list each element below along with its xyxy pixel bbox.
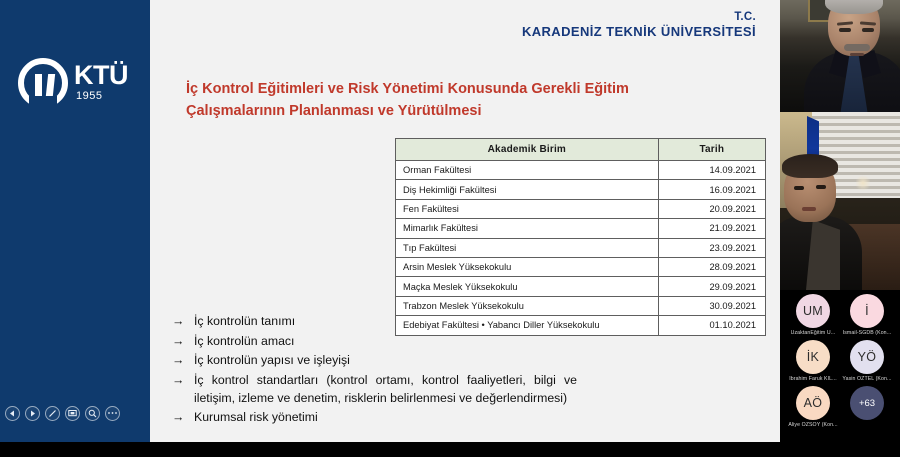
- table-row: Mimarlık Fakültesi21.09.2021: [396, 219, 766, 238]
- schedule-table-body: Orman Fakültesi14.09.2021Diş Hekimliği F…: [396, 161, 766, 336]
- cell-unit: Arsin Meslek Yüksekokulu: [396, 257, 659, 276]
- arrow-icon: →: [172, 351, 194, 370]
- participant-name: Aliye ÖZSOY (Kon...: [788, 422, 837, 428]
- participant-name: UzaktanEğitim U...: [791, 330, 836, 336]
- participant-avatar[interactable]: AÖAliye ÖZSOY (Kon...: [787, 386, 839, 428]
- pen-icon[interactable]: [45, 406, 60, 421]
- table-row: Diş Hekimliği Fakültesi16.09.2021: [396, 180, 766, 199]
- column-header-unit: Akademik Birim: [396, 139, 659, 161]
- avatar: İK: [796, 340, 830, 374]
- meeting-window: KTÜ 1955 T.C. KARADENİZ TEKNİK ÜNİVERSİT…: [0, 0, 900, 457]
- cell-date: 28.09.2021: [658, 257, 765, 276]
- slide-header: T.C. KARADENİZ TEKNİK ÜNİVERSİTESİ: [522, 10, 756, 41]
- participants-rail: UMUzaktanEğitim U...İİsmail-SGDB (Kon...…: [780, 0, 900, 457]
- ktu-wordmark: KTÜ: [74, 62, 128, 89]
- bullet-list: →İç kontrolün tanımı→İç kontrolün amacı→…: [172, 312, 577, 428]
- video-tile-1[interactable]: [780, 0, 900, 112]
- republic-label: T.C.: [522, 10, 756, 24]
- arrow-icon: →: [172, 371, 194, 390]
- cell-date: 20.09.2021: [658, 199, 765, 218]
- slide-title-line2: Çalışmalarının Planlanması ve Yürütülmes…: [186, 100, 706, 122]
- participant-name: İbrahim Faruk KIL...: [789, 376, 837, 382]
- cell-unit: Mimarlık Fakültesi: [396, 219, 659, 238]
- ellipsis-icon[interactable]: [105, 406, 120, 421]
- participant-avatar[interactable]: YÖYasin ÖZTEL (Kon...: [841, 340, 893, 382]
- cell-date: 14.09.2021: [658, 161, 765, 180]
- participant-avatar[interactable]: İKİbrahim Faruk KIL...: [787, 340, 839, 382]
- table-row: Maçka Meslek Yüksekokulu29.09.2021: [396, 277, 766, 296]
- ktu-logo: KTÜ 1955: [18, 58, 140, 110]
- bullet-item: →Kurumsal risk yönetimi: [172, 408, 577, 427]
- slide-title-line1: İç Kontrol Eğitimleri ve Risk Yönetimi K…: [186, 81, 629, 97]
- arrow-icon: →: [172, 332, 194, 351]
- university-name: KARADENİZ TEKNİK ÜNİVERSİTESİ: [522, 24, 756, 40]
- cell-unit: Orman Fakültesi: [396, 161, 659, 180]
- bullet-text: İç kontrolün yapısı ve işleyişi: [194, 351, 350, 369]
- participant-avatar[interactable]: UMUzaktanEğitim U...: [787, 294, 839, 336]
- participant-name: Yasin ÖZTEL (Kon...: [842, 376, 891, 382]
- bullet-text: İç kontrolün amacı: [194, 332, 294, 350]
- cell-unit: Tıp Fakültesi: [396, 238, 659, 257]
- magnifier-icon[interactable]: [85, 406, 100, 421]
- bullet-item: →İç kontrolün amacı: [172, 332, 577, 351]
- schedule-table-wrapper: Akademik Birim Tarih Orman Fakültesi14.0…: [395, 138, 766, 336]
- ktu-emblem-icon: [18, 58, 68, 108]
- table-row: Orman Fakültesi14.09.2021: [396, 161, 766, 180]
- table-row: Arsin Meslek Yüksekokulu28.09.2021: [396, 257, 766, 276]
- arrow-icon: →: [172, 312, 194, 331]
- cell-date: 23.09.2021: [658, 238, 765, 257]
- bullet-item: →İç kontrolün yapısı ve işleyişi: [172, 351, 577, 370]
- cell-unit: Diş Hekimliği Fakültesi: [396, 180, 659, 199]
- presentation-toolbar[interactable]: [0, 399, 150, 427]
- bullet-text: Kurumsal risk yönetimi: [194, 408, 318, 426]
- avatar: UM: [796, 294, 830, 328]
- cell-unit: Fen Fakültesi: [396, 199, 659, 218]
- cell-date: 01.10.2021: [658, 316, 765, 335]
- cell-date: 29.09.2021: [658, 277, 765, 296]
- avatar: AÖ: [796, 386, 830, 420]
- table-row: Fen Fakültesi20.09.2021: [396, 199, 766, 218]
- slide-title: İç Kontrol Eğitimleri ve Risk Yönetimi K…: [186, 78, 706, 123]
- participant-avatar[interactable]: İİsmail-SGDB (Kon...: [841, 294, 893, 336]
- avatar: İ: [850, 294, 884, 328]
- shared-screen-stage[interactable]: KTÜ 1955 T.C. KARADENİZ TEKNİK ÜNİVERSİT…: [0, 0, 780, 457]
- video-tile-2[interactable]: [780, 112, 900, 290]
- bullet-text: İç kontrolün tanımı: [194, 312, 295, 330]
- avatar-row: İKİbrahim Faruk KIL...YÖYasin ÖZTEL (Kon…: [786, 340, 894, 382]
- participant-name: İsmail-SGDB (Kon...: [843, 330, 892, 336]
- avatar: YÖ: [850, 340, 884, 374]
- participants-overflow-button[interactable]: +63: [841, 386, 893, 428]
- ktu-founding-year: 1955: [76, 91, 102, 102]
- bullet-item: →İç kontrol standartları (kontrol ortamı…: [172, 371, 577, 408]
- cell-unit: Maçka Meslek Yüksekokulu: [396, 277, 659, 296]
- column-header-date: Tarih: [658, 139, 765, 161]
- cell-date: 16.09.2021: [658, 180, 765, 199]
- overflow-count-badge: +63: [850, 386, 884, 420]
- avatar-row: AÖAliye ÖZSOY (Kon...+63: [786, 386, 894, 428]
- table-header-row: Akademik Birim Tarih: [396, 139, 766, 161]
- cell-date: 21.09.2021: [658, 219, 765, 238]
- arrow-icon: →: [172, 408, 194, 427]
- participant-avatar-grid: UMUzaktanEğitim U...İİsmail-SGDB (Kon...…: [780, 290, 900, 457]
- schedule-table: Akademik Birim Tarih Orman Fakültesi14.0…: [395, 138, 766, 336]
- bullet-text: İç kontrol standartları (kontrol ortamı,…: [194, 371, 577, 408]
- next-slide-button[interactable]: [25, 406, 40, 421]
- previous-slide-button[interactable]: [5, 406, 20, 421]
- cell-date: 30.09.2021: [658, 296, 765, 315]
- presentation-slide: KTÜ 1955 T.C. KARADENİZ TEKNİK ÜNİVERSİT…: [0, 0, 780, 442]
- avatar-row: UMUzaktanEğitim U...İİsmail-SGDB (Kon...: [786, 294, 894, 336]
- stage-footer-letterbox: [0, 442, 780, 457]
- bullet-item: →İç kontrolün tanımı: [172, 312, 577, 331]
- table-row: Tıp Fakültesi23.09.2021: [396, 238, 766, 257]
- screen-icon[interactable]: [65, 406, 80, 421]
